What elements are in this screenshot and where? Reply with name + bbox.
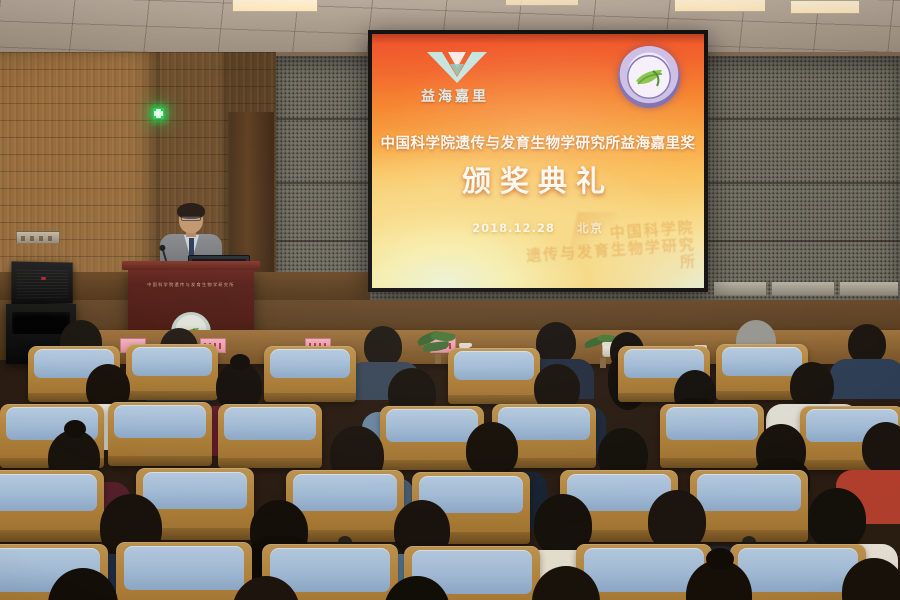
seat-base (108, 456, 212, 466)
seat-base (264, 393, 356, 402)
seat-cushion (738, 548, 858, 592)
person-hair-bun (230, 354, 250, 370)
ceiling-light-panel (505, 0, 579, 6)
podium-nameplate: 中国科学院遗传与发育生物学研究所 (128, 282, 254, 288)
logo-wordmark: 益海嘉里 (396, 86, 514, 106)
person-shoulders (830, 359, 900, 399)
person-head (648, 490, 706, 552)
auditorium-photo: 益海嘉里 中国科学院遗传与发育生物学研究所益海嘉里奖 颁奖典礼 2018.12.… (0, 0, 900, 600)
person-head (848, 324, 886, 364)
seat-cushion (0, 474, 97, 511)
seat-base (660, 458, 764, 468)
seat-cushion (666, 407, 758, 440)
slide-top-shade (372, 34, 704, 44)
yihai-kerry-logo: 益海嘉里 (396, 50, 514, 118)
person-head (862, 422, 900, 474)
person-head (808, 488, 866, 550)
wall-plaque (16, 231, 60, 244)
auditorium-seat[interactable] (660, 404, 764, 468)
green-leaf-icon (633, 65, 665, 89)
auditorium-seat[interactable] (116, 542, 252, 600)
double-chevron-w-icon (426, 50, 488, 84)
ceiling-light-panel (674, 0, 766, 12)
slide-subtitle: 颁奖典礼 (372, 158, 704, 200)
seated-audience (0, 318, 900, 600)
slide-title: 中国科学院遗传与发育生物学研究所益海嘉里奖 (372, 132, 704, 153)
seat-cushion (293, 474, 397, 511)
seat-cushion (386, 409, 478, 442)
seat-base (0, 530, 104, 542)
pa-loudspeaker-top (11, 261, 72, 304)
seat-cushion (143, 472, 247, 509)
person-head (364, 326, 402, 367)
seat-cushion (114, 405, 206, 438)
seat-base (448, 395, 540, 404)
seat-cushion (697, 474, 801, 511)
speaker-power-led (41, 277, 46, 280)
person-head (790, 362, 834, 410)
auditorium-seat[interactable] (108, 402, 212, 466)
seat-cushion (270, 349, 351, 378)
auditorium-seat[interactable] (0, 470, 104, 542)
seat-base (126, 391, 218, 400)
exit-sign-icon (153, 108, 164, 119)
wall-air-vent (772, 282, 834, 296)
auditorium-seat[interactable] (264, 346, 356, 402)
seat-cushion (124, 546, 244, 590)
seat-cushion (722, 347, 803, 376)
podium-top-ledge (122, 261, 260, 270)
seat-cushion (132, 347, 213, 376)
seat-cushion (584, 548, 704, 592)
speaker-grill (17, 270, 68, 300)
person-head (466, 422, 518, 478)
auditorium-seat[interactable] (690, 470, 808, 542)
auditorium-seat[interactable] (126, 344, 218, 400)
wall-air-vent (714, 282, 766, 296)
seat-base (218, 458, 322, 468)
institute-emblem (618, 46, 680, 108)
person-head (536, 322, 576, 364)
auditorium-seat[interactable] (218, 404, 322, 468)
ceiling-light-panel (232, 0, 318, 12)
projection-screen[interactable]: 益海嘉里 中国科学院遗传与发育生物学研究所益海嘉里奖 颁奖典礼 2018.12.… (368, 30, 708, 292)
person-hair-bun (706, 548, 734, 570)
slide-watermark: 中国科学院 遗传与发育生物学研究所 (524, 219, 697, 282)
person-hair-bun (64, 420, 86, 438)
seat-cushion (224, 407, 316, 440)
wall-air-vent (840, 282, 898, 296)
presenter-tie (189, 238, 194, 255)
ceiling-light-panel (790, 0, 860, 14)
projected-slide: 益海嘉里 中国科学院遗传与发育生物学研究所益海嘉里奖 颁奖典礼 2018.12.… (372, 34, 704, 288)
seat-cushion (454, 351, 535, 380)
presenter-glasses (181, 216, 201, 221)
auditorium-seat[interactable] (448, 348, 540, 404)
